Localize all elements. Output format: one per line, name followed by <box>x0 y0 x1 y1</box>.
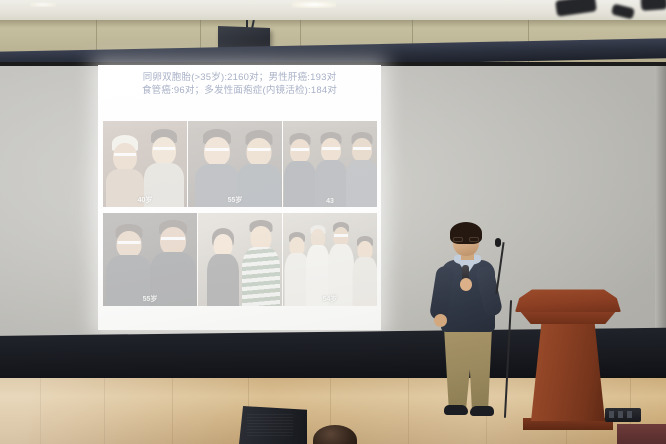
slide-headline: 同卵双胞胎(>35岁):2160对；男性肝癌:193对 食管癌:96对；多发性面… <box>104 71 375 97</box>
presenter-hand <box>460 278 472 291</box>
speaker-grill <box>247 414 293 438</box>
podium-top <box>515 288 621 312</box>
podium-column <box>531 323 605 421</box>
slide-photo-panel: 55岁 <box>188 121 282 207</box>
slide-photo-panel: 43 <box>283 121 377 207</box>
presenter-trousers <box>444 327 492 409</box>
lecture-hall-photo: 同卵双胞胎(>35岁):2160对；男性肝癌:193对 食管癌:96对；多发性面… <box>0 0 666 444</box>
floor-di-box <box>605 408 641 422</box>
stage-monitor <box>239 406 307 444</box>
glasses-icon <box>453 237 479 242</box>
presenter <box>430 222 506 432</box>
stage-mat <box>617 424 666 444</box>
slide-photo-row: 40岁 55岁 <box>103 121 377 207</box>
presenter-hand <box>434 314 447 327</box>
slide-photo-caption: 55岁 <box>228 195 243 205</box>
ceiling-light-icon <box>30 2 56 7</box>
slide-headline-line-1: 同卵双胞胎(>35岁):2160对；男性肝癌:193对 <box>104 71 375 84</box>
wall-shadow <box>0 20 666 28</box>
presenter-shoe <box>444 405 468 415</box>
slide-photo-caption: 43 <box>326 198 334 205</box>
slide-headline-line-2: 食管癌:96对；多发性面疱症(内镜活检):184对 <box>104 84 375 97</box>
slide-photo-panel: 40岁 <box>103 121 187 207</box>
microphone-icon <box>495 238 501 247</box>
right-wall-edge <box>655 66 666 344</box>
slide-photo-caption: 55岁 <box>143 294 158 304</box>
slide-photo-panel: 55岁 <box>103 213 197 306</box>
slide-photo-caption: 40岁 <box>138 195 153 205</box>
ceiling-fixture-icon <box>641 0 666 11</box>
slide-photo-row: 55岁 <box>103 213 377 306</box>
ceiling-light-icon <box>292 1 336 8</box>
slide-photo-caption: 54岁 <box>323 294 338 304</box>
podium-lip <box>519 310 617 324</box>
presenter-shoe <box>470 406 494 416</box>
projected-slide: 同卵双胞胎(>35岁):2160对；男性肝癌:193对 食管癌:96对；多发性面… <box>98 65 381 330</box>
slide-photo-panel <box>198 213 282 306</box>
slide-photo-panel: 54岁 <box>283 213 377 306</box>
